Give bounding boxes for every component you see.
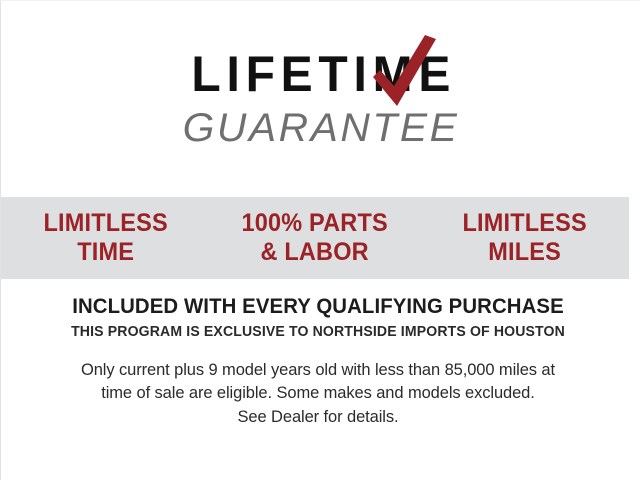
feature-line-1: LIMITLESS bbox=[7, 209, 204, 238]
fineprint-line-2: time of sale are eligible. Some makes an… bbox=[1, 382, 635, 406]
feature-column-limitless-time: LIMITLESS TIME bbox=[7, 209, 204, 267]
feature-line-1: LIMITLESS bbox=[426, 209, 623, 238]
logo-block: LIFETIME GUARANTEE bbox=[1, 49, 640, 148]
fineprint-line-1: Only current plus 9 model years old with… bbox=[1, 359, 635, 383]
fineprint-line-3: See Dealer for details. bbox=[1, 406, 635, 430]
feature-column-limitless-miles: LIMITLESS MILES bbox=[426, 209, 623, 267]
body-block: INCLUDED WITH EVERY QUALIFYING PURCHASE … bbox=[1, 295, 635, 430]
headline: INCLUDED WITH EVERY QUALIFYING PURCHASE bbox=[11, 295, 626, 319]
fineprint-paragraph: Only current plus 9 model years old with… bbox=[1, 359, 635, 431]
feature-banner: LIMITLESS TIME 100% PARTS & LABOR LIMITL… bbox=[1, 197, 629, 279]
feature-line-2: & LABOR bbox=[217, 238, 414, 267]
logo-guarantee-text: GUARANTEE bbox=[0, 108, 640, 148]
logo-lifetime-row: LIFETIME bbox=[180, 49, 462, 99]
feature-line-1: 100% PARTS bbox=[217, 209, 414, 238]
feature-line-2: TIME bbox=[7, 238, 204, 267]
feature-column-parts-labor: 100% PARTS & LABOR bbox=[217, 209, 414, 267]
logo-lifetime-text: LIFETIME bbox=[186, 49, 456, 99]
feature-line-2: MILES bbox=[426, 238, 623, 267]
lifetime-guarantee-ad: LIFETIME GUARANTEE LIMITLESS TIME 100% P… bbox=[0, 0, 640, 480]
subheadline: THIS PROGRAM IS EXCLUSIVE TO NORTHSIDE I… bbox=[11, 324, 626, 341]
